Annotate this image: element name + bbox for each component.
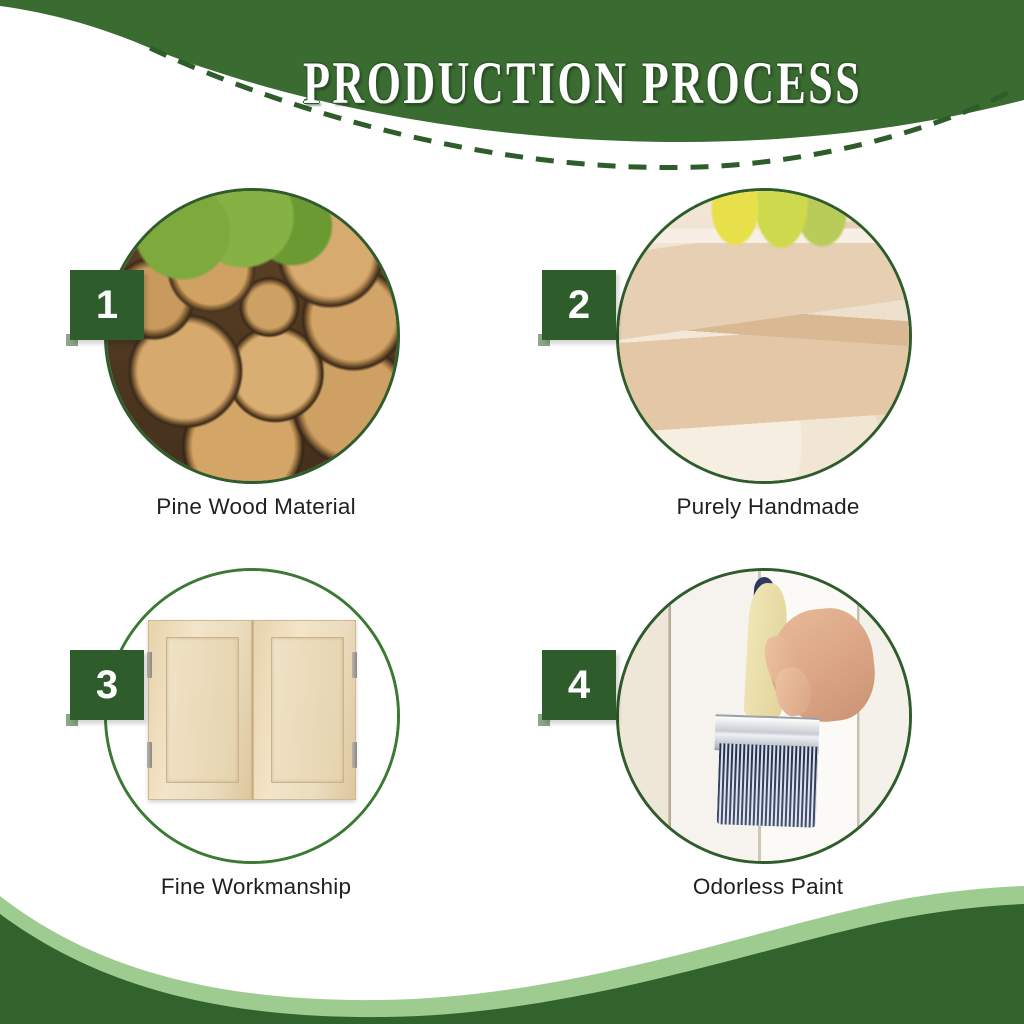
step-caption-3: Fine Workmanship <box>0 874 512 900</box>
door-hinge-icon <box>352 742 357 768</box>
step-number-badge-1: 1 <box>70 270 144 340</box>
process-step-3: 3 <box>0 556 512 936</box>
step-image-4 <box>616 568 912 864</box>
process-step-4: 4 Odorless Paint <box>512 556 1024 936</box>
step-image-circle-1 <box>104 188 400 484</box>
step-caption-1: Pine Wood Material <box>0 494 512 520</box>
cabinet-door-left <box>148 620 252 800</box>
step-number-1: 1 <box>96 285 118 325</box>
step-image-1 <box>104 188 400 484</box>
door-hinge-icon <box>147 742 152 768</box>
wood-boards-photo <box>619 191 909 481</box>
production-process-infographic: PRODUCTION PROCESS 1 Pine Wood Material … <box>0 0 1024 1024</box>
brush-bristles-icon <box>716 743 817 828</box>
page-title: PRODUCTION PROCESS <box>31 49 994 118</box>
cabinet-door-right <box>253 620 357 800</box>
paint-brush-photo <box>619 571 909 861</box>
step-image-circle-4 <box>616 568 912 864</box>
step-image-circle-3 <box>104 568 400 864</box>
step-number-badge-2: 2 <box>542 270 616 340</box>
process-step-1: 1 Pine Wood Material <box>0 176 512 556</box>
cabinet-door-pair <box>148 620 357 800</box>
step-number-badge-3: 3 <box>70 650 144 720</box>
process-step-2: 2 Purely Handmade <box>512 176 1024 556</box>
step-number-badge-4: 4 <box>542 650 616 720</box>
step-number-4: 4 <box>568 665 590 705</box>
cabinet-doors-photo <box>107 571 397 861</box>
step-image-2 <box>616 188 912 484</box>
pine-logs-photo <box>107 191 397 481</box>
step-image-3 <box>104 568 400 864</box>
step-caption-2: Purely Handmade <box>512 494 1024 520</box>
door-hinge-icon <box>352 652 357 678</box>
step-number-2: 2 <box>568 285 590 325</box>
step-image-circle-2 <box>616 188 912 484</box>
step-caption-4: Odorless Paint <box>512 874 1024 900</box>
door-hinge-icon <box>147 652 152 678</box>
process-steps-grid: 1 Pine Wood Material 2 Purely Handmade <box>0 176 1024 936</box>
step-number-3: 3 <box>96 665 118 705</box>
